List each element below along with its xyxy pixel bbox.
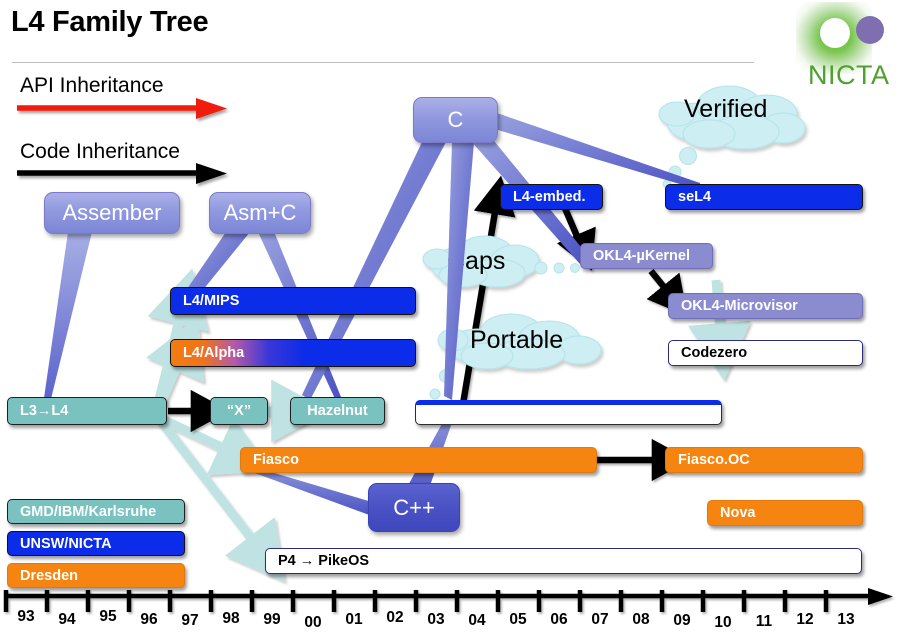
callout-asm-c[interactable]: Asm+C — [209, 192, 311, 234]
kernel-okl4-microvisor[interactable]: OKL4-Microvisor — [668, 293, 863, 319]
kernel-nova-label: Nova — [720, 505, 755, 521]
kernel-x[interactable]: “X” — [210, 397, 268, 425]
tick-label: 93 — [11, 608, 41, 626]
tick-label: 13 — [831, 611, 861, 629]
tick-label: 95 — [93, 608, 123, 626]
tick-label: 96 — [134, 611, 164, 629]
kernel-pistachio[interactable] — [415, 400, 722, 425]
callout-assember-label: Assember — [62, 200, 161, 226]
kernel-okl4-ukernel[interactable]: OKL4-µKernel — [580, 243, 713, 269]
kernel-l3-l4[interactable]: L3→L4 — [7, 397, 167, 425]
tick-label: 04 — [462, 612, 492, 630]
legend-dresden-label: Dresden — [20, 568, 78, 584]
kernel-hazelnut[interactable]: Hazelnut — [290, 397, 385, 425]
legend-gmd-label: GMD/IBM/Karlsruhe — [20, 504, 156, 520]
tail-assember — [44, 232, 92, 403]
kernel-p4-pikeos[interactable]: P4 → PikeOS — [265, 548, 862, 574]
tick-label: 11 — [749, 613, 779, 631]
tick-label: 94 — [52, 611, 82, 629]
tick-label: 02 — [380, 609, 410, 627]
tick-label: 10 — [708, 614, 738, 632]
tick-label: 09 — [667, 612, 697, 630]
callout-cpp[interactable]: C++ — [368, 483, 460, 532]
tick-label: 06 — [544, 611, 574, 629]
callout-asm-c-label: Asm+C — [224, 200, 297, 226]
slide-canvas: L4 Family Tree NICTA API Inheritance Cod… — [0, 0, 901, 631]
kernel-okl4-microvisor-label: OKL4-Microvisor — [681, 298, 798, 314]
kernel-sel4[interactable]: seL4 — [665, 184, 863, 210]
kernel-codezero[interactable]: Codezero — [668, 340, 863, 366]
kernel-fiasco-label: Fiasco — [253, 452, 299, 468]
legend-gmd-ibm-karlsruhe: GMD/IBM/Karlsruhe — [7, 499, 185, 524]
tail-asm-c-2 — [258, 232, 341, 401]
kernel-hazelnut-label: Hazelnut — [307, 403, 367, 419]
kernel-l3-l4-label: L3→L4 — [20, 403, 68, 419]
timeline-axis: 93 94 95 96 97 98 99 00 01 02 03 04 05 0… — [0, 586, 901, 631]
legend-unsw-nicta: UNSW/NICTA — [7, 531, 185, 556]
kernel-fiasco-oc-label: Fiasco.OC — [678, 452, 750, 468]
tick-label: 05 — [503, 611, 533, 629]
kernel-fiasco[interactable]: Fiasco — [240, 447, 597, 473]
kernel-codezero-label: Codezero — [681, 345, 747, 361]
tail-c-sel4 — [494, 112, 700, 190]
kernel-l4-embedded-label: L4-embed. — [513, 189, 586, 205]
tick-label: 01 — [339, 611, 369, 629]
kernel-l4-mips[interactable]: L4/MIPS — [170, 287, 416, 315]
kernel-l4-alpha-label: L4/Alpha — [183, 345, 244, 361]
kernel-x-label: “X” — [227, 403, 251, 419]
tick-label: 08 — [626, 611, 656, 629]
legend-unsw-label: UNSW/NICTA — [20, 536, 112, 552]
kernel-sel4-label: seL4 — [678, 189, 711, 205]
kernel-l4-alpha[interactable]: L4/Alpha — [170, 339, 416, 367]
kernel-l4-embedded[interactable]: L4-embed. — [500, 184, 603, 210]
callout-c[interactable]: C — [413, 97, 498, 143]
kernel-okl4-ukernel-label: OKL4-µKernel — [593, 248, 690, 264]
kernel-l4-mips-label: L4/MIPS — [183, 293, 239, 309]
tail-cpp-fiasco — [252, 467, 372, 516]
callout-assember[interactable]: Assember — [44, 192, 180, 234]
tail-c-pistachio — [444, 142, 474, 400]
tick-label: 00 — [298, 614, 328, 632]
tick-label: 12 — [790, 611, 820, 629]
tick-label: 97 — [175, 612, 205, 630]
tick-label: 98 — [216, 610, 246, 628]
kernel-nova[interactable]: Nova — [707, 500, 863, 526]
kernel-p4-pikeos-label: P4 → PikeOS — [278, 553, 369, 569]
tick-label: 07 — [585, 611, 615, 629]
callout-cpp-label: C++ — [393, 495, 435, 521]
callout-c-label: C — [448, 107, 464, 133]
legend-dresden: Dresden — [7, 563, 185, 588]
tick-label: 99 — [257, 611, 287, 629]
tick-label: 03 — [421, 611, 451, 629]
kernel-fiasco-oc[interactable]: Fiasco.OC — [665, 447, 863, 473]
